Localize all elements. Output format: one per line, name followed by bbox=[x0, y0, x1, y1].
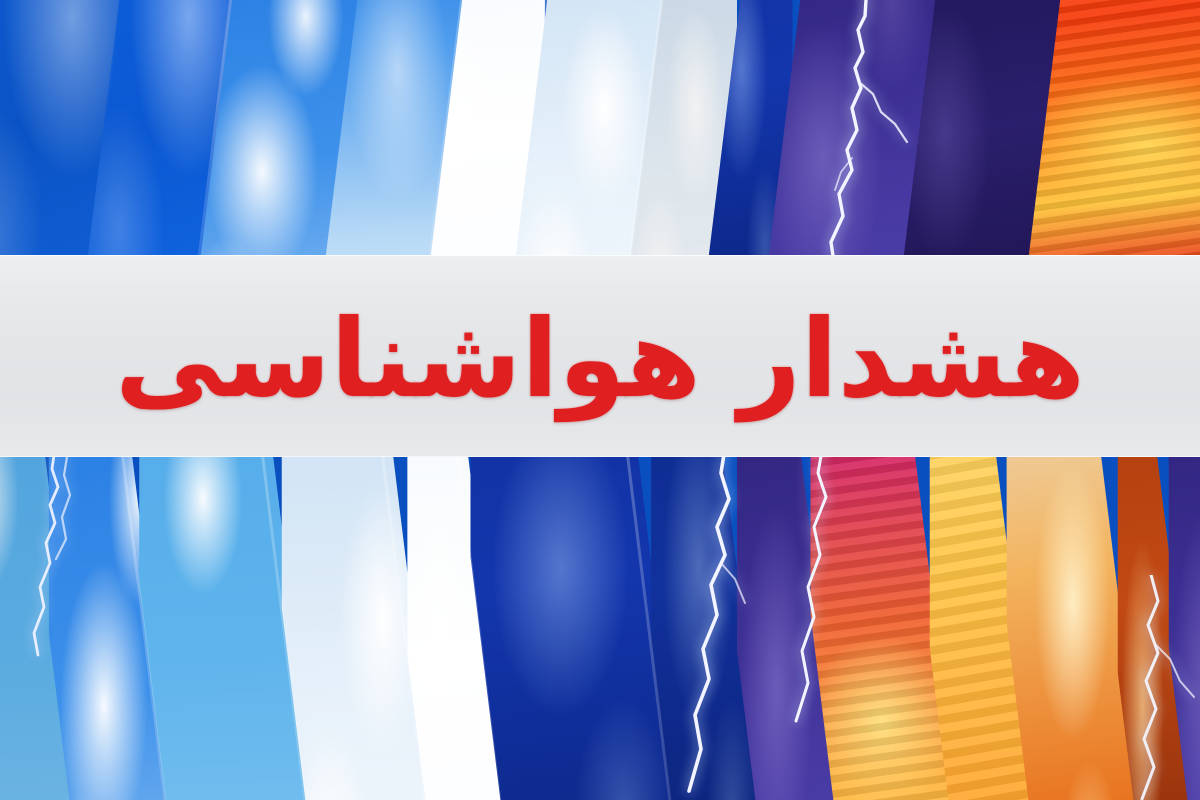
weather-warning-graphic: هشدار هواشناسی bbox=[0, 0, 1200, 800]
bottom-sky-band bbox=[0, 455, 1200, 800]
warning-banner: هشدار هواشناسی bbox=[0, 255, 1200, 457]
top-sky-band bbox=[0, 0, 1200, 257]
page-title: هشدار هواشناسی bbox=[115, 306, 1085, 414]
